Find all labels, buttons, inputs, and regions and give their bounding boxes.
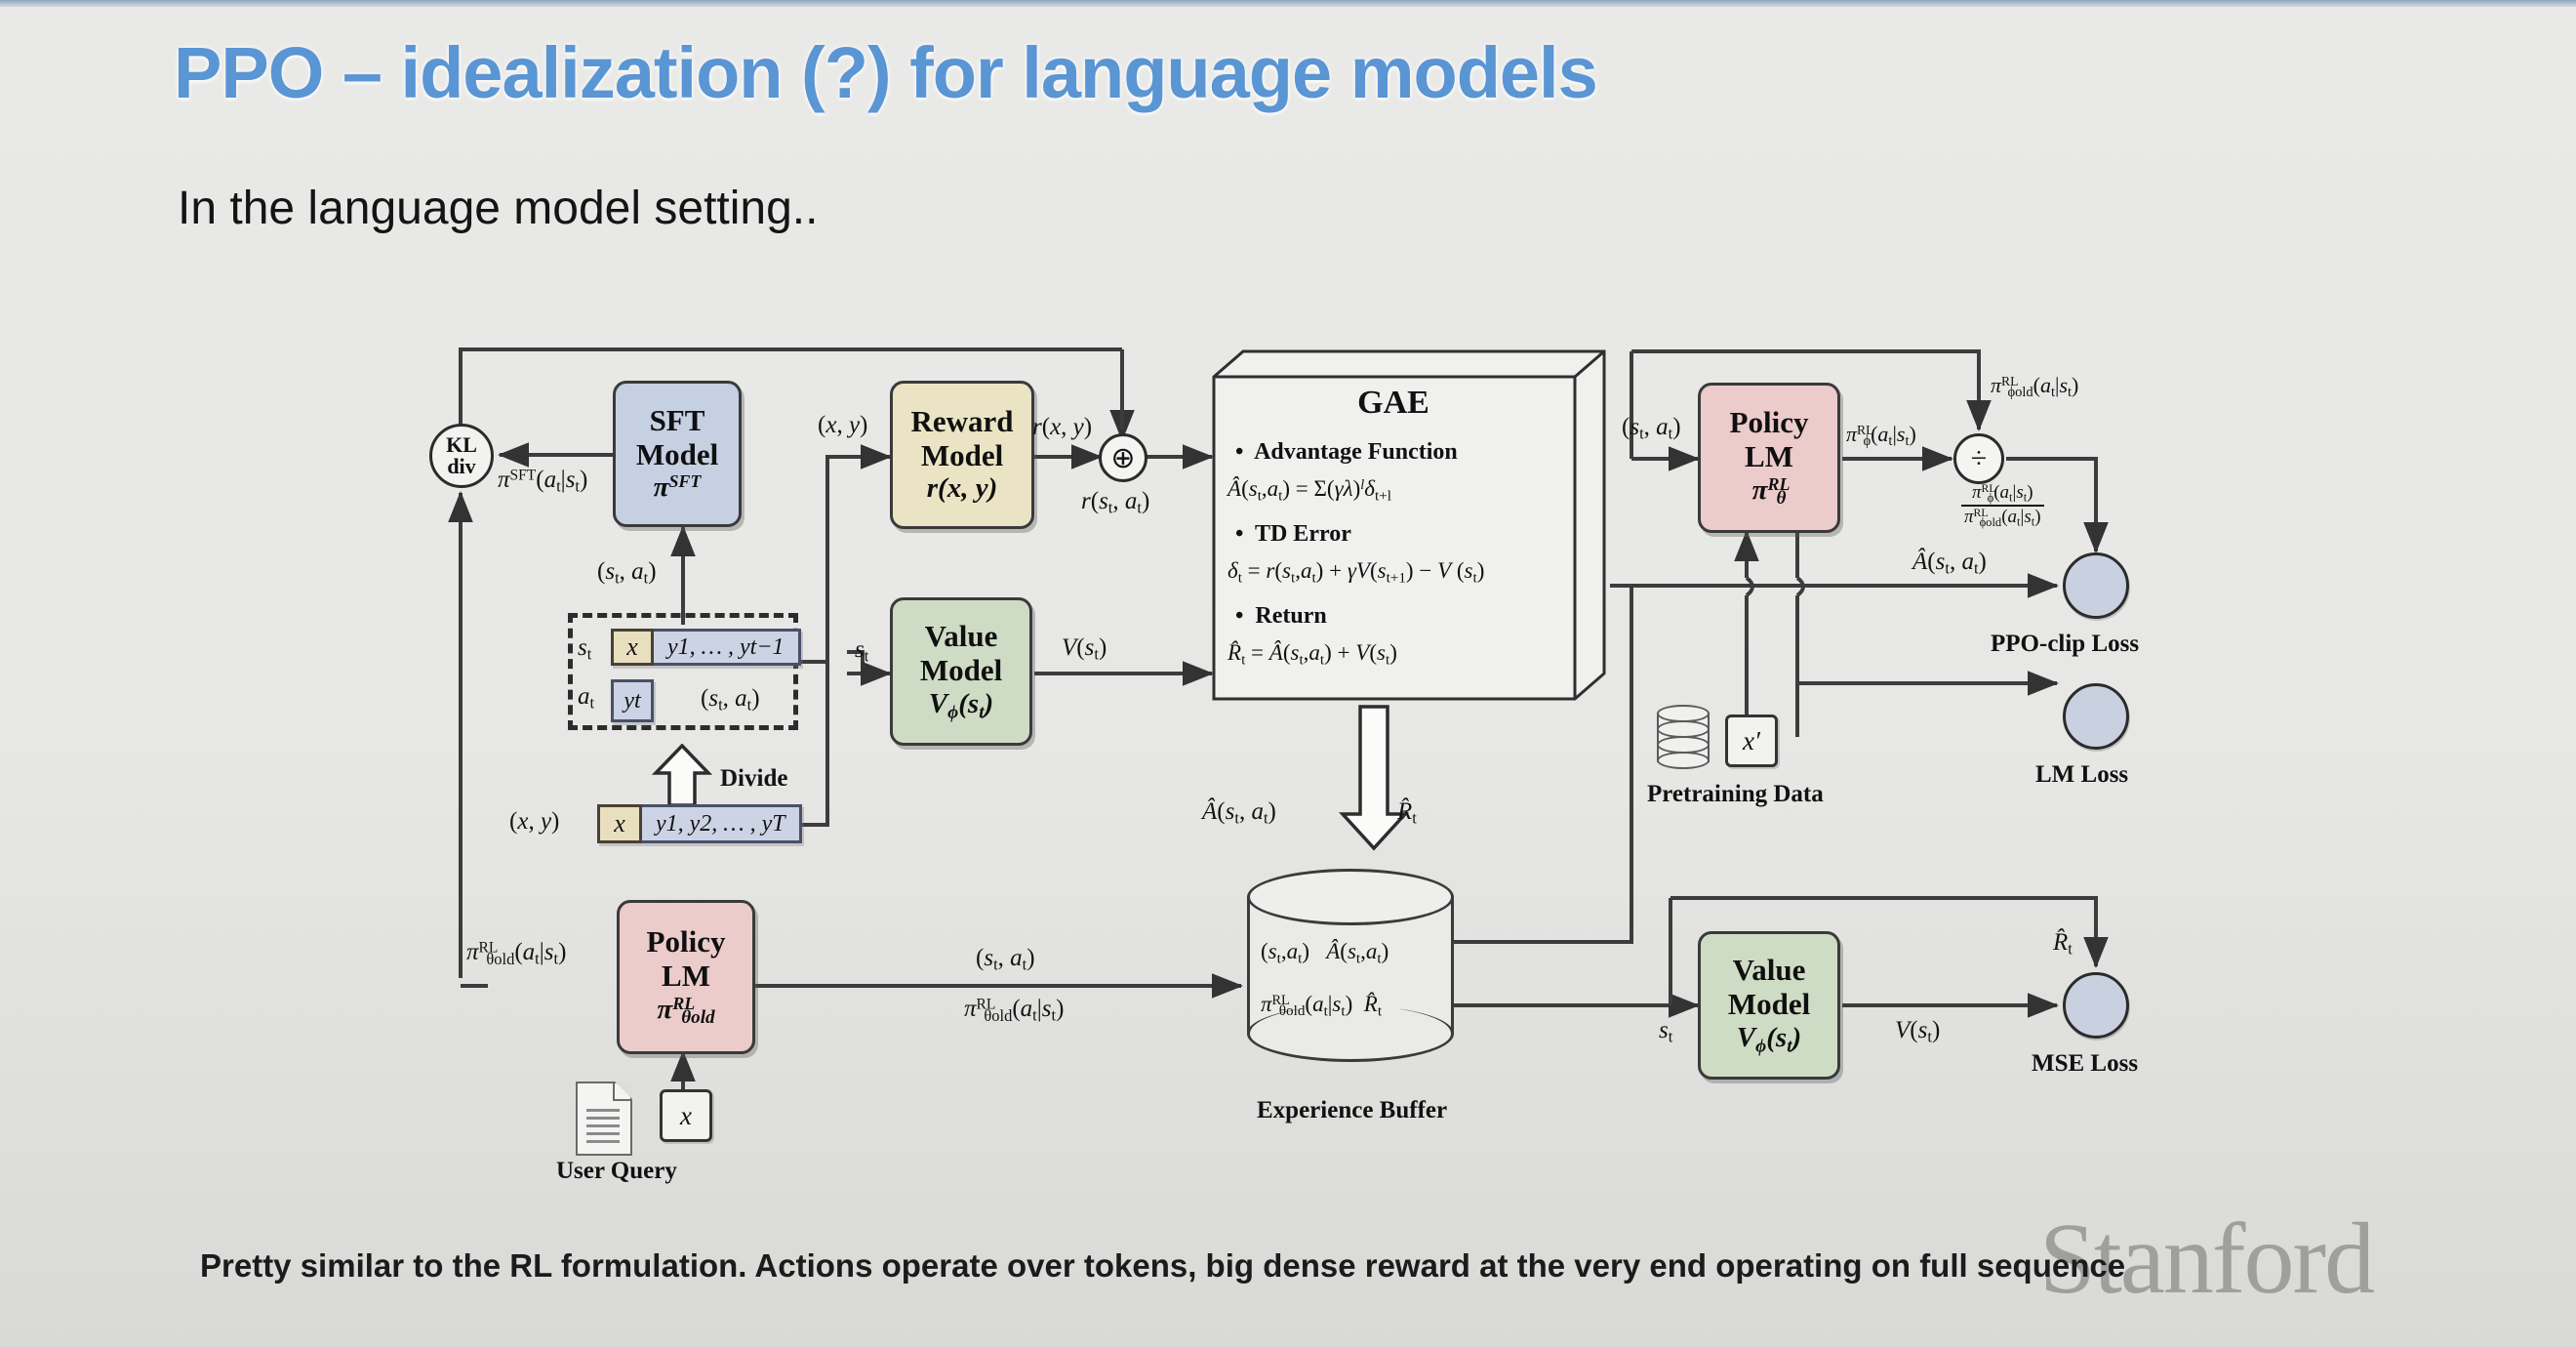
pretraining-token-box: x′ [1725, 714, 1778, 767]
edge-label-policy-bottom-left: πRLθold(at|st) [466, 939, 566, 969]
edge-label-buffer-in-top: (st, at) [976, 945, 1035, 975]
lm-loss-node[interactable] [2063, 683, 2129, 750]
kl-div-node[interactable]: KL div [429, 424, 494, 488]
db-ring [1657, 752, 1710, 769]
full-sequence-strip: x y1, y2, … , yT [597, 804, 802, 843]
buffer-row1: (st,at) Â(st,at) [1261, 939, 1389, 967]
edge-label-policy-in: (st, at) [1622, 414, 1681, 444]
policy-lm-top-line3: πRLθ [1752, 474, 1787, 510]
doc-line [586, 1132, 620, 1135]
user-query-token-box: x [660, 1089, 712, 1142]
ppo-architecture-diagram: KL div πSFT(at|st) SFT Model πSFT (st, a… [0, 0, 2576, 1347]
gae-bullet-return: • Return [1235, 603, 1327, 630]
document-fold [613, 1082, 632, 1101]
policy-lm-bottom-line2: LM [662, 959, 710, 994]
value-model-right-line3: Vϕ(st) [1737, 1022, 1801, 1057]
ppo-clip-loss-caption: PPO-clip Loss [1991, 631, 2139, 658]
action-y-cell: yt [611, 679, 654, 722]
edge-label-value-right-out: V(st) [1895, 1017, 1940, 1047]
gae-block[interactable]: GAE • Advantage Function Â(st,at) = Σ(γλ… [1212, 349, 1606, 701]
ppo-clip-loss-node[interactable] [2063, 552, 2129, 619]
reward-model-line2: Model [921, 439, 1003, 473]
divide-label: Divide [720, 765, 787, 793]
edge-label-reward-out: r(x, y) [1032, 414, 1092, 441]
full-sequence-label: (x, y) [509, 808, 559, 836]
buffer-row2: πRLθold(at|st) R̂t [1261, 992, 1382, 1020]
sft-model-node[interactable]: SFT Model πSFT [613, 381, 742, 527]
action-row-label: at [578, 683, 594, 714]
edge-label-gae-out-adv: Â(st, at) [1202, 798, 1276, 829]
sft-model-line3: πSFT [654, 471, 702, 503]
value-model-left-node[interactable]: Value Model Vϕ(st) [890, 597, 1032, 746]
reward-model-node[interactable]: Reward Model r(x, y) [890, 381, 1034, 529]
gae-bullet-advantage: • Advantage Function [1235, 439, 1458, 466]
slide-caption: Pretty similar to the RL formulation. Ac… [200, 1247, 2503, 1285]
sft-model-line1: SFT [650, 404, 705, 438]
value-model-left-line1: Value [925, 620, 998, 654]
buffer-top [1247, 869, 1454, 925]
divide-hollow-arrow [652, 744, 712, 808]
plus-operator-node: ⊕ [1099, 433, 1147, 482]
reward-model-line1: Reward [910, 405, 1013, 439]
edge-label-adv-to-ppo: Â(st, at) [1912, 549, 1987, 579]
pretraining-data-caption: Pretraining Data [1647, 781, 1824, 808]
gae-equation-advantage: Â(st,at) = Σ(γλ)lδt+l [1228, 476, 1391, 505]
state-x-cell: x [611, 629, 654, 666]
edge-label-value-out: V(st) [1062, 634, 1107, 665]
policy-lm-bottom-node[interactable]: Policy LM πRLθold [617, 900, 755, 1054]
doc-line [586, 1117, 620, 1120]
value-model-right-line2: Model [1728, 988, 1810, 1022]
policy-lm-top-node[interactable]: Policy LM πRLθ [1698, 383, 1840, 533]
user-query-caption: User Query [556, 1158, 677, 1185]
full-sequence-y-cell: y1, y2, … , yT [642, 804, 802, 843]
edge-label-policy-ratio: πRLϕ(at|st) πRLϕold(at|st) [1961, 482, 2044, 530]
policy-lm-bottom-line3: πRLθold [657, 994, 714, 1029]
state-y-cell: y1, … , yt−1 [654, 629, 801, 666]
edge-label-policy-out: πRLϕ(at|st) [1846, 422, 1916, 450]
gae-equation-return: R̂t = Â(st,at) + V(st) [1228, 640, 1397, 669]
value-model-left-line3: Vϕ(st) [929, 688, 993, 723]
policy-lm-top-line1: Policy [1730, 406, 1809, 440]
policy-lm-bottom-line1: Policy [647, 925, 726, 959]
edge-label-sft-to-kl: πSFT(at|st) [498, 467, 587, 497]
full-sequence-x-cell: x [597, 804, 642, 843]
edge-label-ret-to-mse: R̂t [2053, 929, 2073, 959]
policy-lm-top-line2: LM [1745, 440, 1793, 474]
state-row-label: st [578, 634, 591, 665]
state-action-pair-label: (st, at) [701, 685, 760, 715]
sft-model-line2: Model [636, 438, 718, 472]
edge-label-st-to-value: st [855, 636, 868, 667]
doc-line [586, 1124, 620, 1127]
kl-div-line2: div [447, 456, 475, 477]
plus-op-symbol: ⊕ [1110, 441, 1135, 475]
edge-label-st-to-value-right: st [1659, 1017, 1672, 1047]
user-query-document-icon [576, 1082, 632, 1156]
divide-op-symbol: ÷ [1971, 442, 1987, 475]
divide-operator-node: ÷ [1953, 433, 2004, 484]
edge-label-state-action-to-sft: (st, at) [597, 558, 657, 589]
gae-title: GAE [1212, 385, 1575, 422]
gae-equation-td-error: δt = r(st,at) + γV(st+1) − V (st) [1228, 558, 1484, 587]
value-model-right-line1: Value [1733, 954, 1806, 988]
reward-model-line3: r(x, y) [927, 472, 998, 504]
value-model-right-node[interactable]: Value Model Vϕ(st) [1698, 931, 1840, 1080]
kl-div-line1: KL [446, 434, 477, 456]
mse-loss-caption: MSE Loss [2032, 1050, 2138, 1078]
gae-to-buffer-arrow [1339, 705, 1409, 851]
value-model-left-line2: Model [920, 654, 1002, 688]
edge-label-old-policy-in: πRLϕold(at|st) [1991, 373, 2078, 401]
edge-label-xy-to-reward: (x, y) [818, 412, 867, 439]
pretraining-database-icon [1657, 705, 1710, 771]
edge-label-buffer-in-bottom: πRLθold(at|st) [964, 996, 1064, 1026]
doc-line [586, 1109, 620, 1112]
mse-loss-node[interactable] [2063, 972, 2129, 1039]
lm-loss-caption: LM Loss [2035, 761, 2128, 789]
edge-label-plus-out: r(st, at) [1081, 488, 1149, 518]
edge-label-gae-out-ret: R̂t [1397, 798, 1417, 829]
gae-bullet-td-error: • TD Error [1235, 521, 1351, 548]
experience-buffer-caption: Experience Buffer [1257, 1097, 1447, 1124]
state-token-strip: x y1, … , yt−1 [611, 629, 801, 666]
doc-line [586, 1140, 620, 1143]
